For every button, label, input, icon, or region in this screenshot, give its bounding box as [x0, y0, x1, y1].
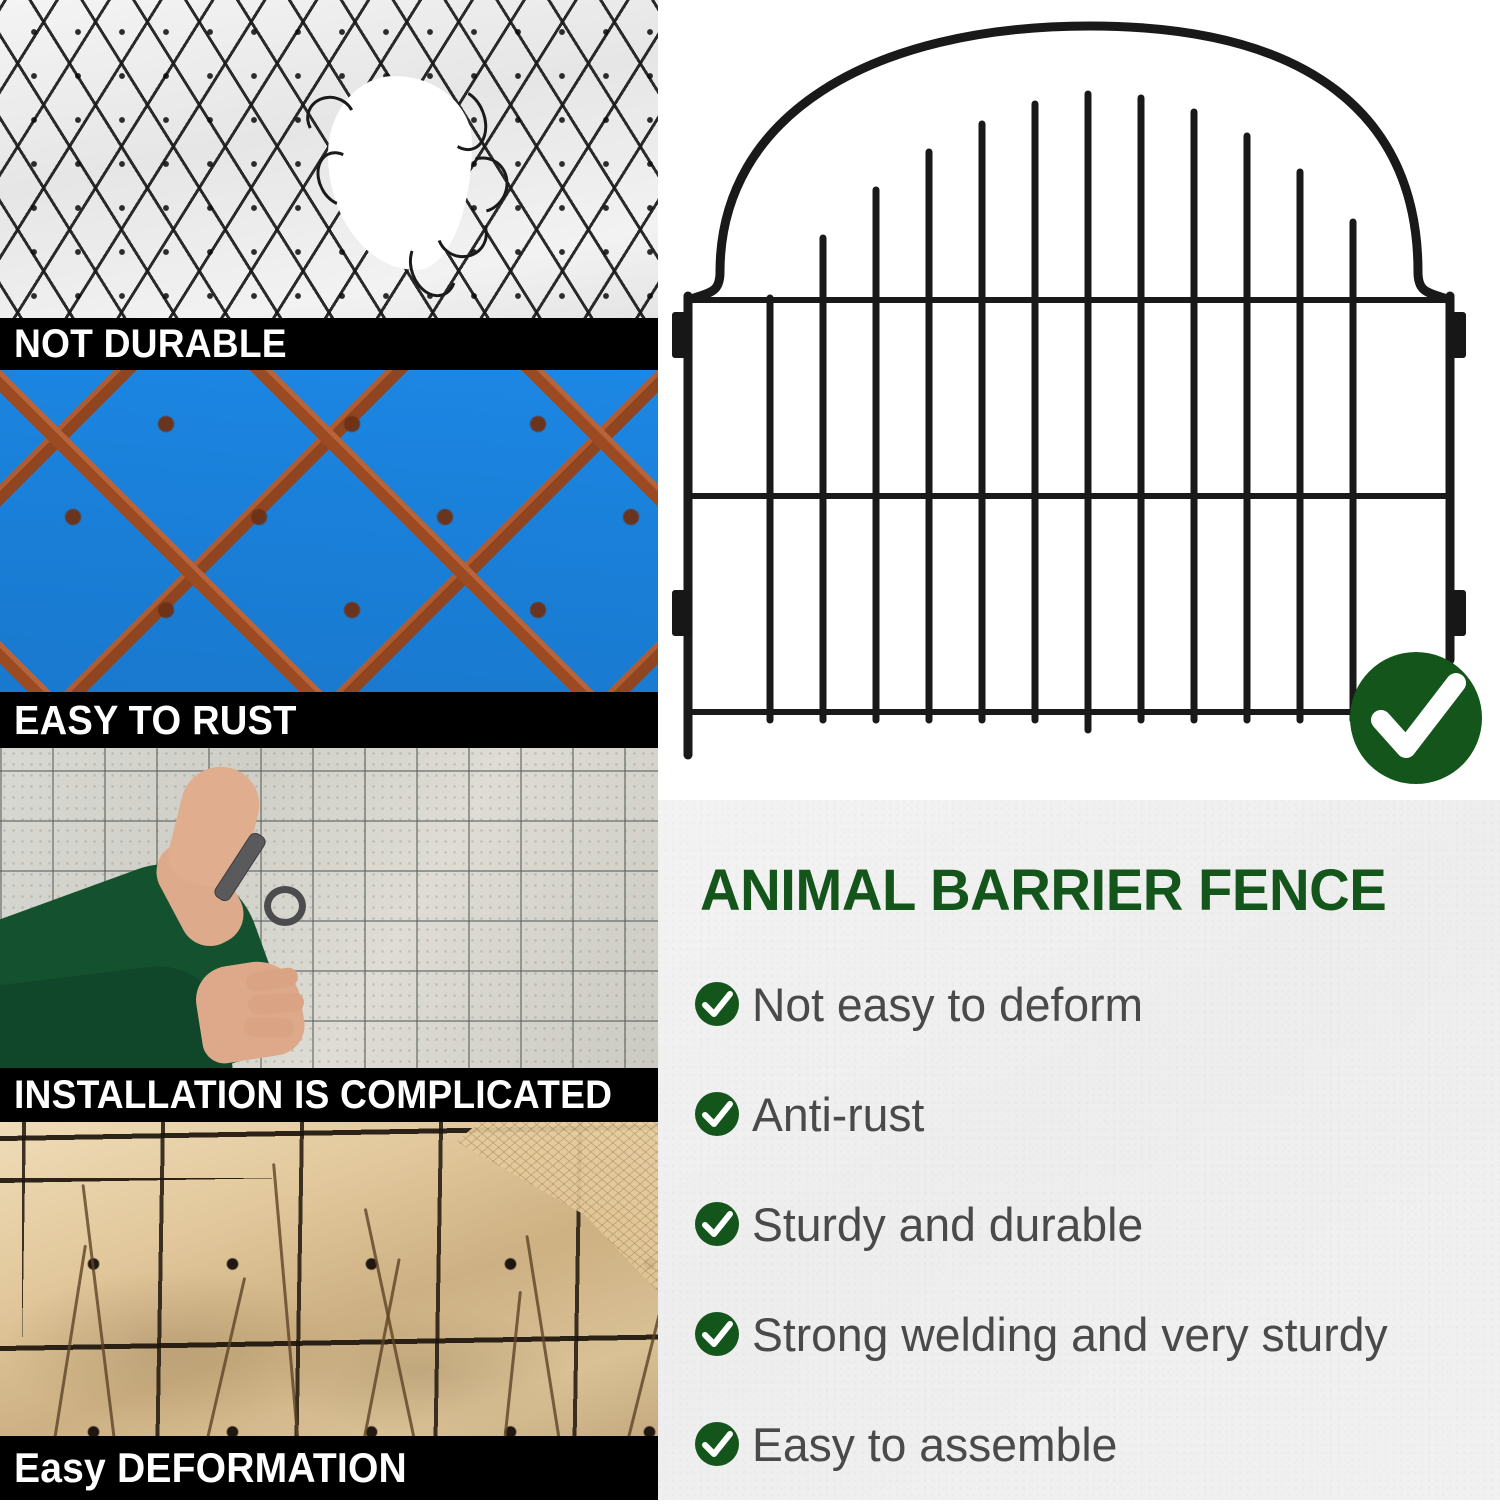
caption-bar: Easy DEFORMATION — [0, 1436, 658, 1500]
photo-card-not-durable: NOT DURABLE — [0, 0, 658, 370]
product-infographic: NOT DURABLE EASY TO RUST — [0, 0, 1500, 1500]
caption-bar: EASY TO RUST — [0, 692, 658, 748]
feature-label: Easy to assemble — [752, 1421, 1117, 1468]
list-item: Not easy to deform — [694, 960, 1494, 1048]
feature-label: Anti-rust — [752, 1091, 924, 1138]
caption-bar: INSTALLATION IS COMPLICATED — [0, 1068, 658, 1122]
photo-card-installation-complicated: INSTALLATION IS COMPLICATED — [0, 748, 658, 1122]
fence-vertical-bars — [770, 94, 1353, 730]
caption-text: EASY TO RUST — [14, 700, 297, 741]
right-shoulder — [1418, 272, 1450, 300]
feature-label: Sturdy and durable — [752, 1201, 1143, 1248]
clip-top-left — [672, 312, 692, 358]
comparison-photo-column: NOT DURABLE EASY TO RUST — [0, 0, 658, 1500]
product-photo-pane — [658, 0, 1500, 800]
list-item: Sturdy and durable — [694, 1180, 1494, 1268]
feature-label: Not easy to deform — [752, 981, 1143, 1028]
caption-text: NOT DURABLE — [14, 324, 287, 364]
caption-bar: NOT DURABLE — [0, 318, 658, 370]
photo-card-easy-deformation: Easy DEFORMATION — [0, 1122, 658, 1500]
clip-bottom-right — [1446, 590, 1466, 636]
caption-text: INSTALLATION IS COMPLICATED — [14, 1075, 612, 1115]
check-badge-icon — [694, 1201, 740, 1247]
list-item: Easy to assemble — [694, 1400, 1494, 1488]
bracket-clips — [672, 312, 1466, 636]
chainlink-hole-icon — [0, 0, 658, 370]
check-badge-icon — [694, 1311, 740, 1357]
check-badge-icon — [694, 981, 740, 1027]
green-check-badge — [1350, 652, 1482, 784]
animal-barrier-fence-panel — [658, 0, 1500, 800]
page-title: ANIMAL BARRIER FENCE — [700, 862, 1386, 920]
caption-text: Easy DEFORMATION — [14, 1447, 407, 1489]
check-badge-icon — [694, 1421, 740, 1467]
hand-tool-icon — [0, 748, 658, 1122]
photo-card-easy-to-rust: EASY TO RUST — [0, 370, 658, 748]
left-shoulder — [688, 272, 720, 300]
list-item: Strong welding and very sturdy — [694, 1290, 1494, 1378]
list-item: Anti-rust — [694, 1070, 1494, 1158]
clip-top-right — [1446, 312, 1466, 358]
feature-list: Not easy to deform Anti-rust Sturdy and … — [694, 960, 1494, 1510]
feature-panel: ANIMAL BARRIER FENCE Not easy to deform … — [658, 800, 1500, 1500]
feature-label: Strong welding and very sturdy — [752, 1311, 1388, 1358]
check-badge-icon — [694, 1091, 740, 1137]
clip-bottom-left — [672, 590, 692, 636]
